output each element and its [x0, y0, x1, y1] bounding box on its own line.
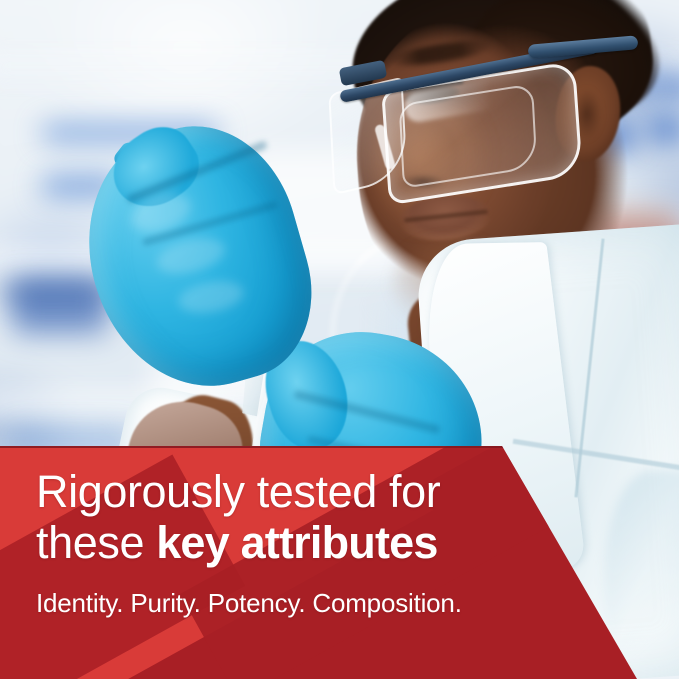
banner-headline: Rigorously tested for these key attribut…: [36, 466, 556, 568]
banner-text-block: Rigorously tested for these key attribut…: [36, 466, 556, 618]
banner-subline: Identity. Purity. Potency. Composition.: [36, 588, 556, 618]
safety-glasses: [332, 22, 632, 182]
promotional-banner-image: Rigorously tested for these key attribut…: [0, 0, 679, 679]
headline-bold-text: key attributes: [156, 517, 437, 568]
